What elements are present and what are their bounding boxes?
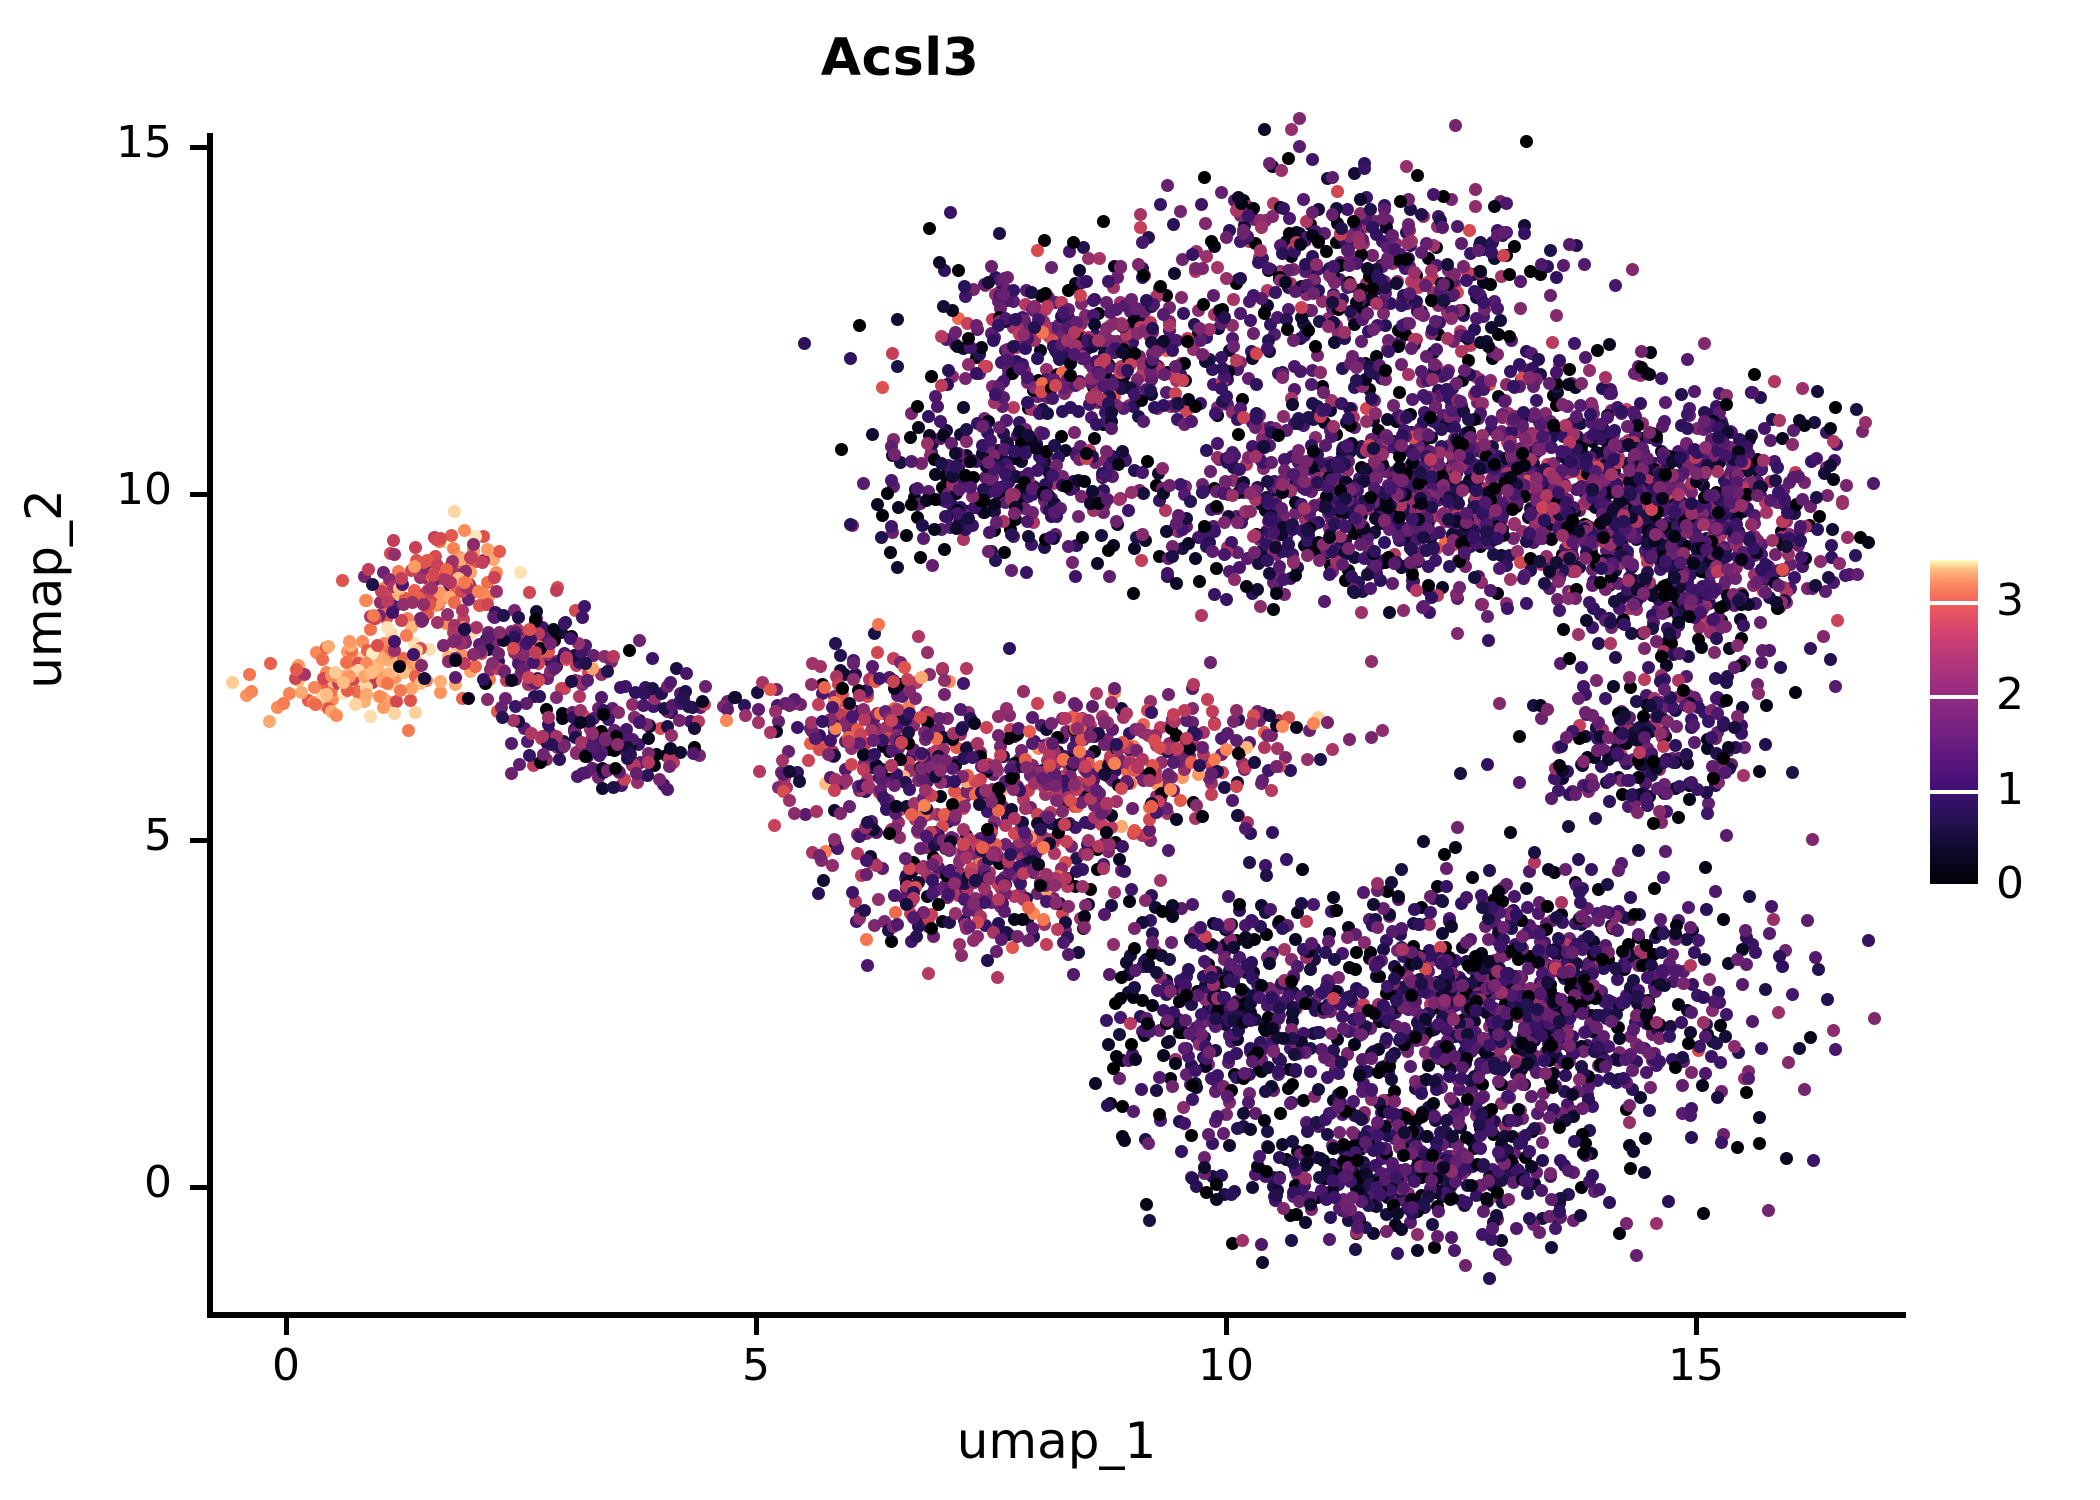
x-tick-label-10: 10: [1156, 1340, 1296, 1391]
x-tick-5: [754, 1318, 759, 1335]
figure-canvas: Acsl3 051015051015 umap_2 umap_1 3210: [0, 0, 2100, 1500]
y-tick-label-15: 15: [52, 117, 172, 168]
y-tick-label-5: 5: [52, 810, 172, 861]
x-axis-label: umap_1: [207, 1412, 1906, 1470]
axes: 051015051015 umap_2 umap_1: [0, 0, 2100, 1500]
x-tick-label-15: 15: [1626, 1340, 1766, 1391]
x-tick-10: [1224, 1318, 1229, 1335]
y-tick-label-0: 0: [52, 1157, 172, 1208]
x-tick-label-5: 5: [686, 1340, 826, 1391]
x-tick-15: [1694, 1318, 1699, 1335]
y-tick-0: [190, 1185, 207, 1190]
x-tick-0: [284, 1318, 289, 1335]
y-tick-15: [190, 145, 207, 150]
x-tick-label-0: 0: [216, 1340, 356, 1391]
y-axis-label: umap_2: [15, 429, 73, 749]
x-axis-spine: [207, 1312, 1906, 1318]
y-axis-spine: [207, 133, 213, 1318]
y-tick-10: [190, 492, 207, 497]
y-tick-5: [190, 838, 207, 843]
